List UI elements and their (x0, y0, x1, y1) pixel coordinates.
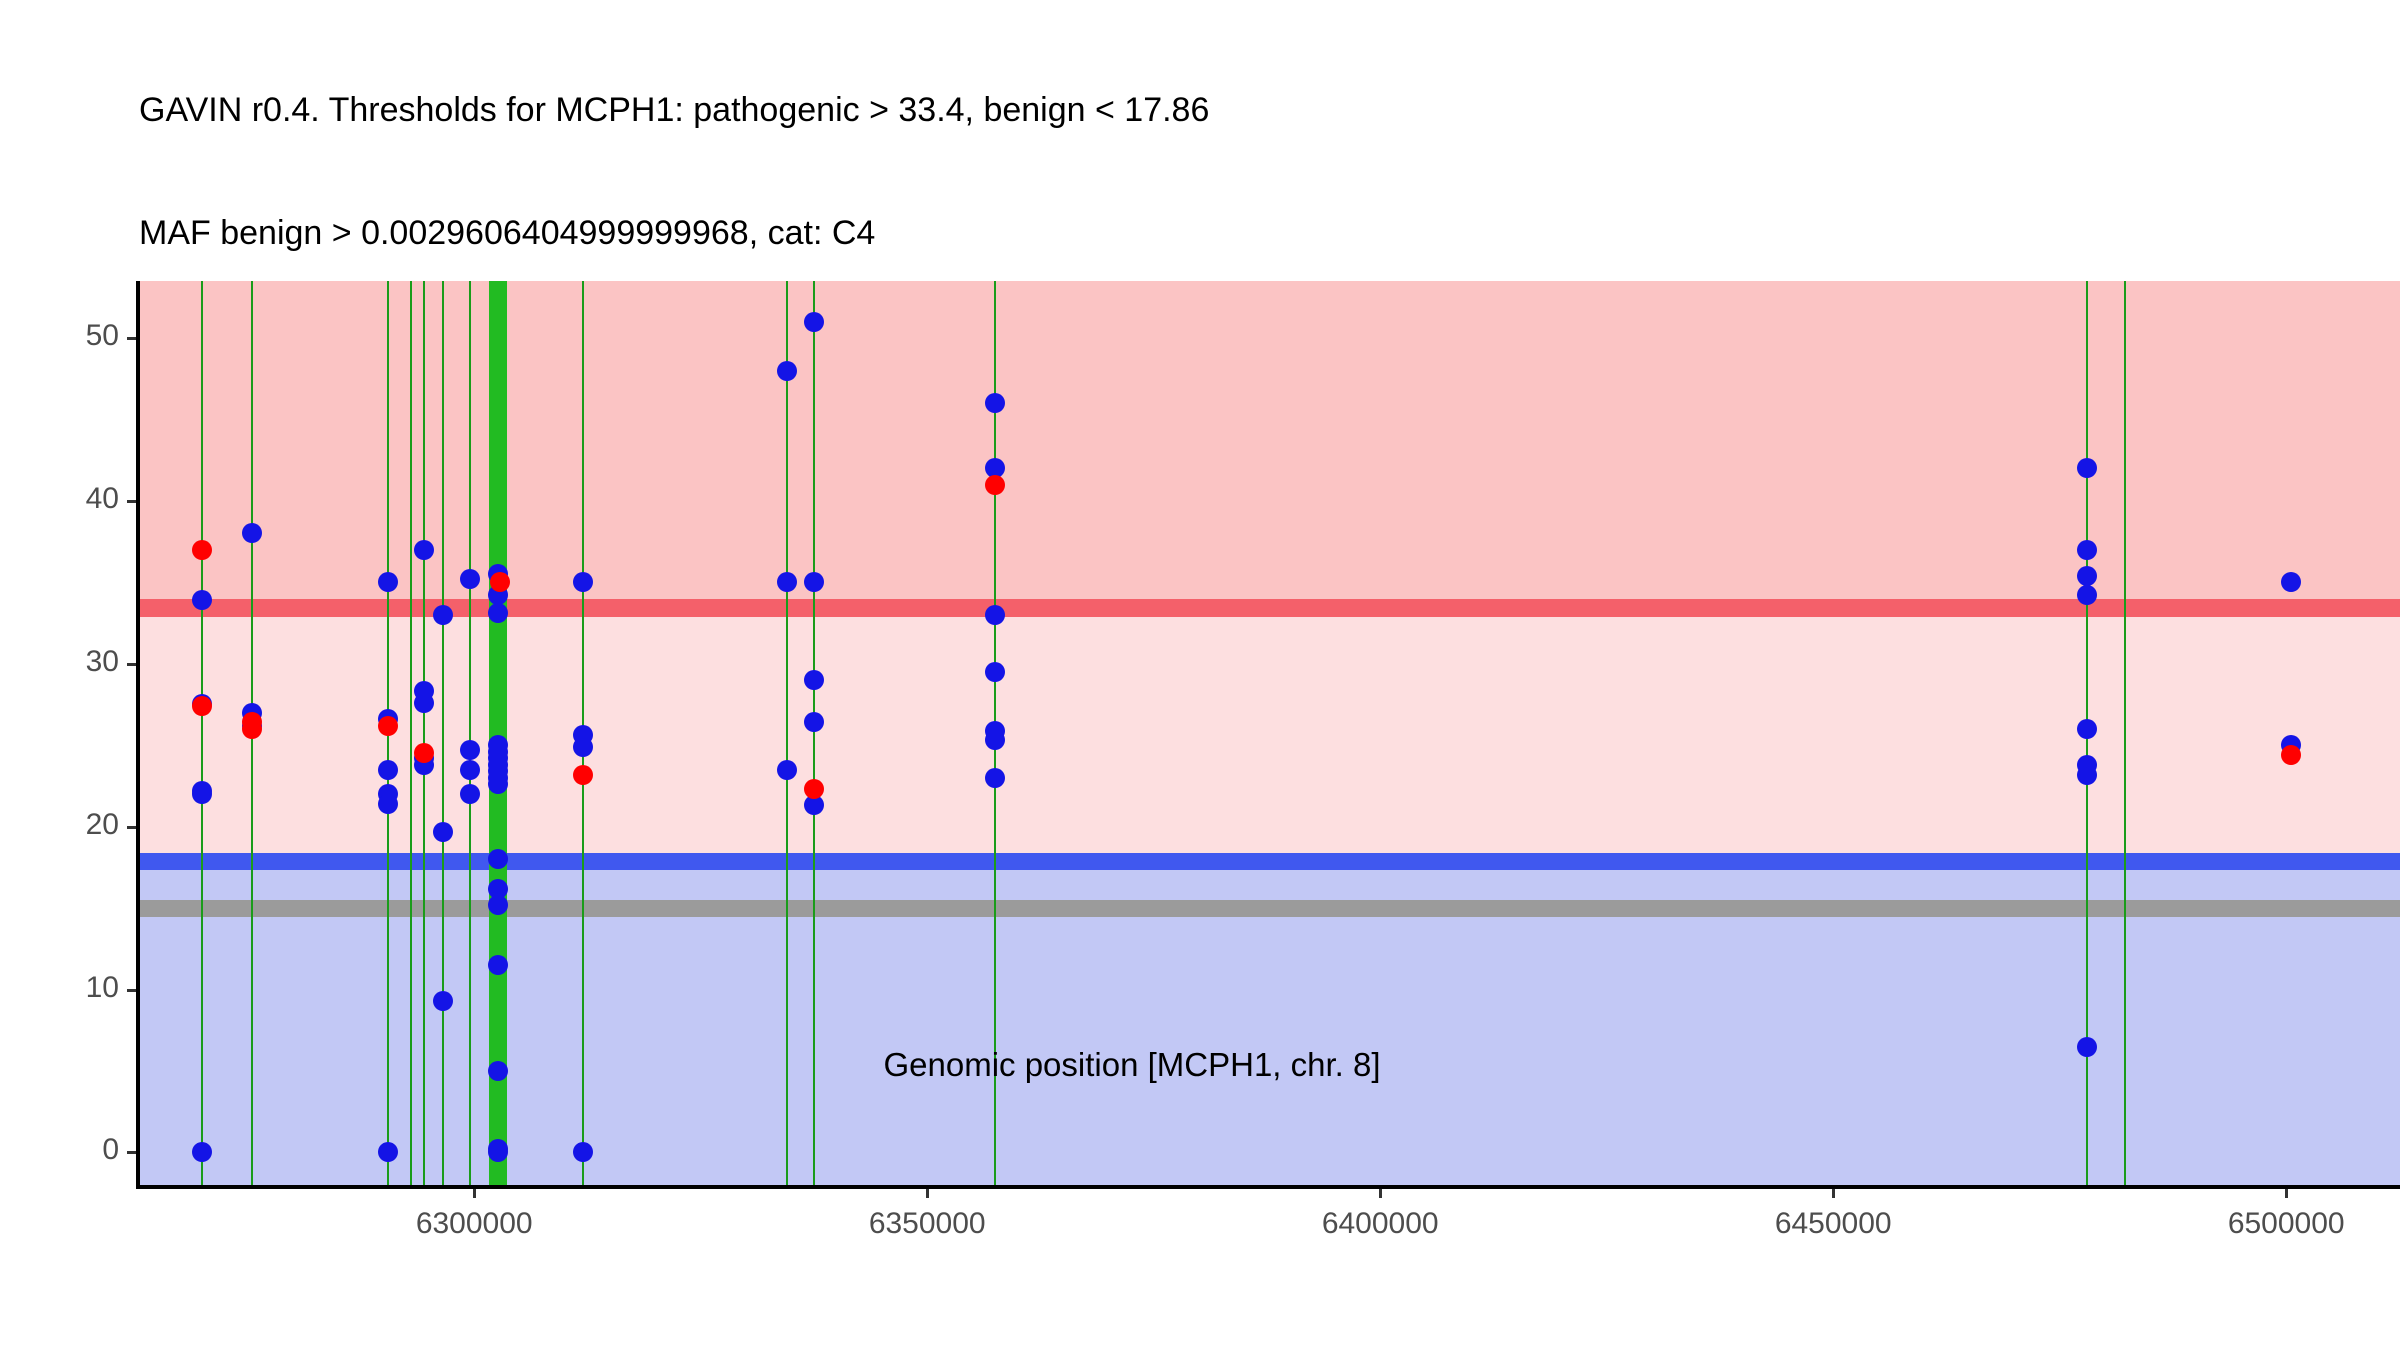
pathogenic-threshold-line (139, 599, 2400, 617)
x-axis-tick-mark (1832, 1189, 1835, 1198)
x-axis-tick-label: 6300000 (344, 1207, 604, 1241)
refseq-exon-band (489, 281, 507, 1185)
x-axis-tick-label: 6500000 (2156, 1207, 2400, 1241)
refseq-exon-line (469, 281, 471, 1185)
gnomad-variant-point[interactable] (433, 991, 453, 1011)
x-axis-title: Genomic position [MCPH1, chr. 8] (883, 1046, 1380, 1084)
gnomad-variant-point[interactable] (573, 737, 593, 757)
refseq-exon-line (442, 281, 444, 1185)
refseq-exon-line (201, 281, 203, 1185)
x-axis-tick-mark (473, 1189, 476, 1198)
x-axis-tick-mark (2285, 1189, 2288, 1198)
refseq-exon-line (410, 281, 412, 1185)
gnomad-variant-point[interactable] (985, 605, 1005, 625)
gnomad-variant-point[interactable] (488, 774, 508, 794)
plot-title-line-1: GAVIN r0.4. Thresholds for MCPH1: pathog… (139, 90, 2369, 131)
gnomad-variant-point[interactable] (2281, 572, 2301, 592)
y-axis-tick-label: 40 (0, 482, 119, 516)
clinvar-pathogenic-point[interactable] (985, 475, 1005, 495)
gnomad-variant-point[interactable] (378, 760, 398, 780)
gnomad-variant-point[interactable] (460, 784, 480, 804)
gnomad-variant-point[interactable] (460, 740, 480, 760)
y-axis-tick-label: 20 (0, 808, 119, 842)
gnomad-variant-point[interactable] (2077, 765, 2097, 785)
clinvar-pathogenic-point[interactable] (573, 765, 593, 785)
gnomad-variant-point[interactable] (777, 760, 797, 780)
gnomad-variant-point[interactable] (2077, 540, 2097, 560)
y-axis-tick-label: 10 (0, 971, 119, 1005)
gnomad-variant-point[interactable] (777, 361, 797, 381)
y-axis-tick-label: 50 (0, 319, 119, 353)
clinvar-pathogenic-point[interactable] (490, 572, 510, 592)
y-axis-tick-label: 30 (0, 645, 119, 679)
benign-threshold-line (139, 853, 2400, 870)
y-axis-tick-mark (127, 500, 136, 503)
gnomad-variant-point[interactable] (488, 1061, 508, 1081)
gnomad-variant-point[interactable] (378, 794, 398, 814)
y-axis-line (136, 281, 140, 1185)
y-axis-tick-label: 0 (0, 1133, 119, 1167)
gnomad-variant-point[interactable] (433, 822, 453, 842)
refseq-exon-line (423, 281, 425, 1185)
gnomad-variant-point[interactable] (460, 760, 480, 780)
gnomad-variant-point[interactable] (414, 540, 434, 560)
refseq-exon-line (786, 281, 788, 1185)
gnomad-variant-point[interactable] (985, 662, 1005, 682)
gnomad-variant-point[interactable] (985, 768, 1005, 788)
gnomad-variant-point[interactable] (488, 955, 508, 975)
y-axis-tick-mark (127, 989, 136, 992)
gnomad-variant-point[interactable] (777, 572, 797, 592)
vus-region (139, 608, 2400, 861)
gnomad-variant-point[interactable] (488, 603, 508, 623)
refseq-exon-line (813, 281, 815, 1185)
x-axis-tick-mark (926, 1189, 929, 1198)
y-axis-tick-mark (127, 337, 136, 340)
plot-title-line-2: MAF benign > 0.0029606404999999968, cat:… (139, 213, 2369, 254)
y-axis-tick-mark (127, 663, 136, 666)
fallback-threshold-line (139, 900, 2400, 917)
x-axis-tick-mark (1379, 1189, 1382, 1198)
gnomad-variant-point[interactable] (460, 569, 480, 589)
clinvar-pathogenic-point[interactable] (378, 716, 398, 736)
refseq-exon-line (2124, 281, 2126, 1185)
gnomad-variant-point[interactable] (488, 849, 508, 869)
gnomad-variant-point[interactable] (804, 312, 824, 332)
clinvar-pathogenic-point[interactable] (2281, 745, 2301, 765)
gnomad-variant-point[interactable] (488, 895, 508, 915)
y-axis-tick-mark (127, 826, 136, 829)
x-axis-tick-label: 6450000 (1703, 1207, 1963, 1241)
gnomad-variant-point[interactable] (2077, 566, 2097, 586)
x-axis-tick-label: 6350000 (797, 1207, 1057, 1241)
y-axis-tick-mark (127, 1151, 136, 1154)
x-axis-tick-label: 6400000 (1250, 1207, 1510, 1241)
pathogenic-region (139, 281, 2400, 608)
gnomad-variant-point[interactable] (433, 605, 453, 625)
gnomad-variant-point[interactable] (2077, 1037, 2097, 1057)
gnomad-variant-point[interactable] (804, 670, 824, 690)
gnomad-variant-point[interactable] (2077, 719, 2097, 739)
